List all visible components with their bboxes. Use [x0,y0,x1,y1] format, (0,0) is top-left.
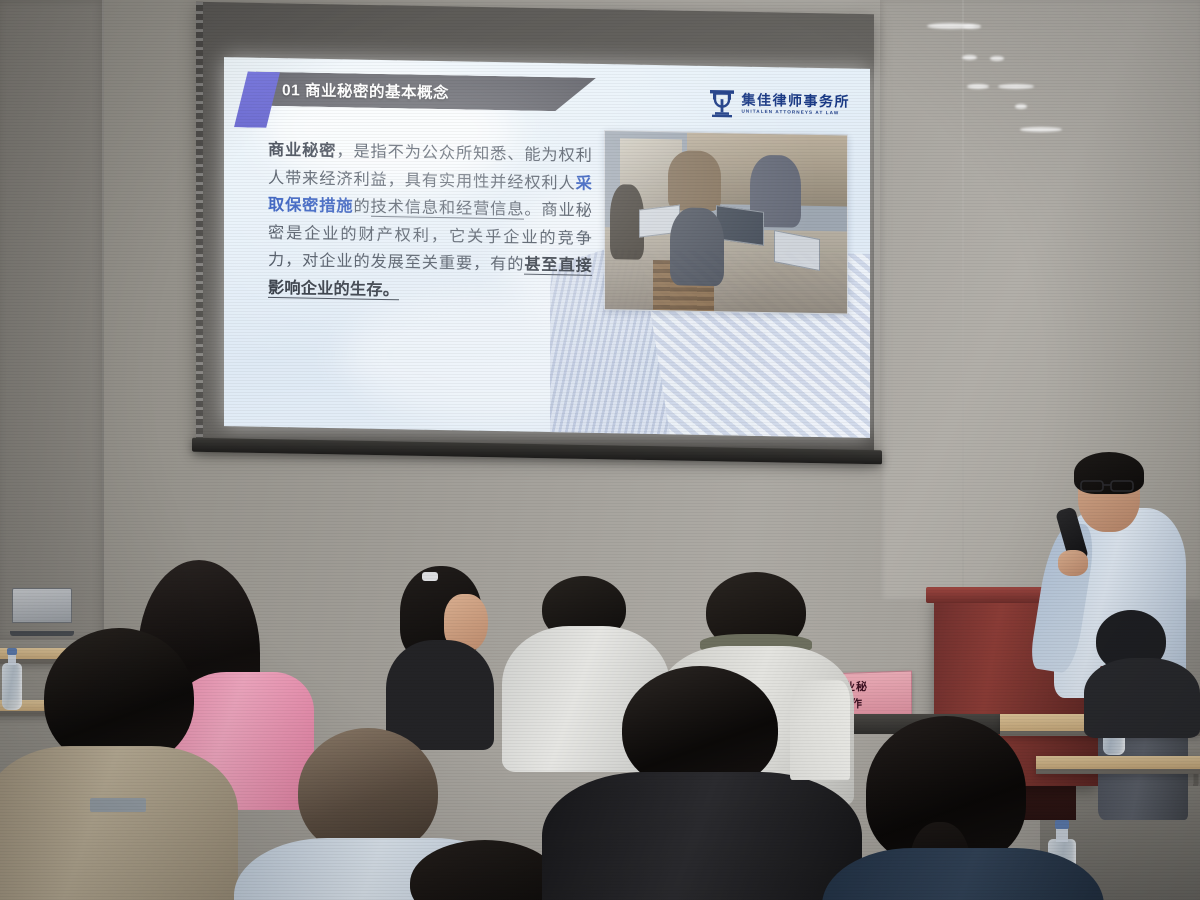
attendee-top [0,746,238,900]
slide-text-seg-underline: 技术信息和经营信息 [371,197,525,220]
hair-clip [422,572,438,581]
attendee-dark-shirt-far-right [1090,610,1200,730]
attendee-torso [1084,658,1200,738]
lecture-room-photo: 01 商业秘密的基本概念 集佳律师事务所 UNITALEN ATTORNEYS … [0,0,1200,900]
firm-logo-text: 集佳律师事务所 UNITALEN ATTORNEYS AT LAW [742,93,851,116]
attendee-top [822,848,1104,900]
laptop-screen [12,588,72,623]
attendee-head [410,840,560,900]
wall-light-reflection [998,84,1034,89]
slide-text-seg-normal: 的 [353,197,370,216]
attendee-tshirt [542,772,862,900]
slide-body-text: 商业秘密，是指不为公众所知悉、能为权利人带来经济利益，具有实用性并经权利人采取保… [268,136,592,307]
attendee-head [298,728,438,856]
wall-light-reflection [990,56,1004,61]
screen-edge-perforation [196,2,203,450]
firm-name-en: UNITALEN ATTORNEYS AT LAW [742,110,851,117]
attendee-partial-right [790,660,850,770]
firm-name-cn: 集佳律师事务所 [742,93,851,110]
firm-logo: 集佳律师事务所 UNITALEN ATTORNEYS AT LAW [709,88,851,121]
attendee-front-row-left [410,840,560,900]
attendee-black-top-woman [392,566,512,736]
speaker-hand-left [1058,550,1088,576]
wall-light-reflection [963,24,981,29]
attendee-navy-ponytail [842,716,1092,900]
slide-text-seg-bold: 商业秘密 [268,140,336,160]
photo-laptop [716,205,764,246]
attendee-beige-polo [6,628,232,900]
wall-panel-left [0,0,104,640]
photo-person [670,207,723,286]
presentation-slide: 01 商业秘密的基本概念 集佳律师事务所 UNITALEN ATTORNEYS … [224,57,870,438]
wall-light-reflection [1015,104,1027,109]
unitalen-pillar-icon [709,88,735,118]
clothing-tag [90,798,146,812]
slide-paragraph: 商业秘密，是指不为公众所知悉、能为权利人带来经济利益，具有实用性并经权利人采取保… [268,136,592,307]
photo-person [668,150,721,211]
wall-light-reflection [1020,127,1062,132]
slide-embedded-photo [604,130,848,314]
wall-light-reflection [962,55,977,60]
slide-title: 01 商业秘密的基本概念 [282,78,449,103]
wall-light-reflection [967,84,989,89]
attendee-shirt [790,680,850,780]
glasses-icon [1080,479,1136,491]
